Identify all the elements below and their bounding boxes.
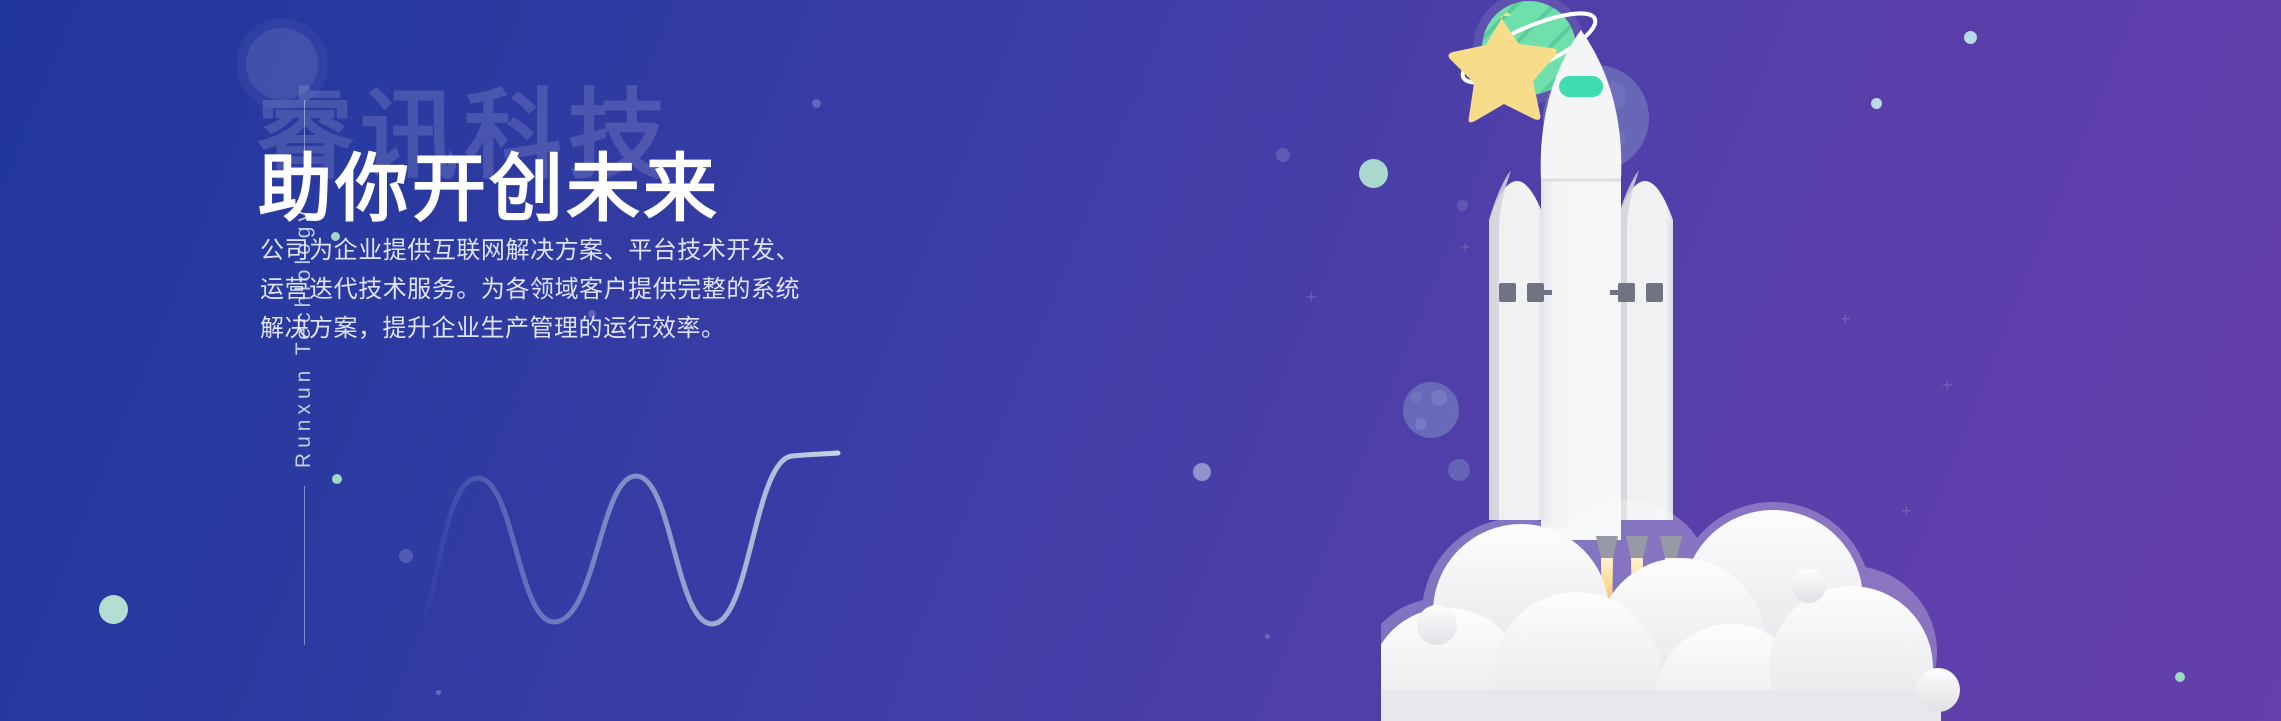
pebble-icon: [1916, 668, 1960, 712]
hero-description: 公司为企业提供互联网解决方案、平台技术开发、运营迭代技术服务。为各领域客户提供完…: [260, 232, 800, 349]
slate-dot: [1193, 463, 1211, 481]
slate-dot: [436, 690, 441, 695]
slate-dot: [399, 549, 413, 563]
slate-dot: [812, 99, 821, 108]
hero-banner: + + + + + + Runxun Techlology 睿讯科技 助你开创未…: [0, 0, 2281, 721]
sparkle-plus-icon: +: [1306, 288, 1317, 306]
brand-rule-bottom: [304, 486, 305, 645]
slate-dot: [1265, 634, 1270, 639]
rocket-scene: [1381, 0, 2281, 721]
sine-wave-icon: [420, 440, 890, 640]
cloud-cluster-icon: [1381, 500, 1941, 721]
mint-dot: [332, 474, 342, 484]
moon-small-icon: [1403, 382, 1459, 438]
pebble-icon: [1792, 569, 1826, 603]
page-title: 助你开创未来: [258, 142, 720, 235]
slate-dot: [1276, 148, 1290, 162]
pebble-icon: [1417, 605, 1457, 645]
small-moon-icon: [1448, 459, 1470, 481]
mint-dot: [99, 595, 128, 624]
